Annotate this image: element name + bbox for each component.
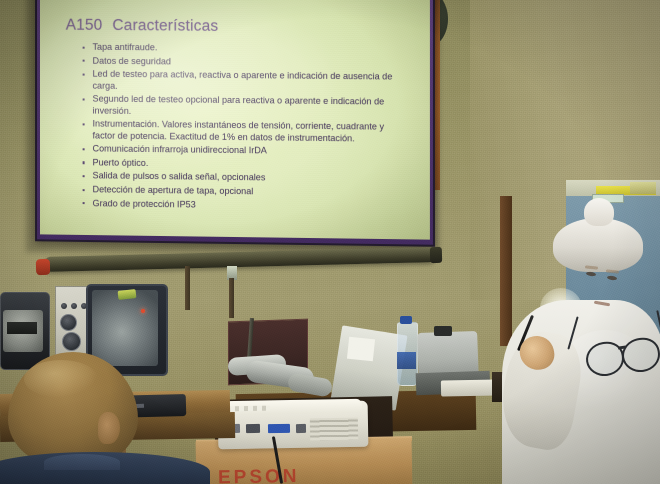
projector-vent bbox=[310, 418, 358, 441]
shelf-object bbox=[630, 182, 656, 194]
box-brand-print: EPSON bbox=[218, 465, 378, 484]
white-device bbox=[441, 379, 499, 396]
tripod-leg-left bbox=[185, 266, 190, 310]
list-item: Detección de apertura de tapa, opcional bbox=[80, 184, 404, 199]
projector-port-vga bbox=[268, 424, 290, 433]
slide-title-code: A150 bbox=[66, 17, 103, 34]
audience-collar bbox=[44, 454, 120, 470]
screen-canvas: A150Características Tapa antifraude. Dat… bbox=[40, 0, 430, 240]
equipment-top-module bbox=[434, 326, 452, 336]
eyeglass-lens-right bbox=[620, 336, 660, 375]
presenter-hair-tuft bbox=[584, 198, 614, 226]
panel-indicator-1 bbox=[61, 303, 67, 309]
panel-knob-upper bbox=[60, 314, 77, 331]
meter-digits bbox=[7, 322, 37, 334]
paper-block bbox=[347, 337, 375, 362]
list-item: Puerto óptico. bbox=[80, 157, 404, 172]
panel-knob-lower bbox=[62, 332, 81, 351]
bottle-cap bbox=[400, 316, 412, 324]
list-item: Salida de pulsos o salida señal, opciona… bbox=[80, 171, 404, 186]
instrument-glass bbox=[92, 290, 158, 366]
projector-port-video bbox=[296, 424, 306, 433]
projector-port-serial bbox=[246, 424, 260, 433]
audience-hair-highlight bbox=[24, 360, 98, 398]
slide-content: A150Características Tapa antifraude. Dat… bbox=[40, 0, 430, 240]
instrument-label bbox=[118, 289, 137, 300]
slide-bullet-list: Tapa antifraude. Datos de seguridad Led … bbox=[66, 42, 414, 214]
list-item: Comunicación infrarroja unidireccional I… bbox=[80, 143, 404, 158]
slide-title-text: Características bbox=[112, 17, 218, 35]
status-indicator-led bbox=[141, 309, 145, 313]
list-item: Datos de seguridad bbox=[80, 55, 404, 69]
presenter-hair bbox=[553, 218, 643, 272]
door-frame bbox=[500, 196, 512, 346]
slide-title: A150Características bbox=[66, 17, 414, 38]
list-item: Tapa antifraude. bbox=[80, 42, 404, 56]
roller-cap-left bbox=[36, 259, 50, 275]
list-item: Grado de protección IP53 bbox=[80, 198, 404, 214]
list-item: Led de testeo para activa, reactiva o ap… bbox=[80, 69, 404, 95]
list-item: Segundo led de testeo opcional para reac… bbox=[80, 94, 404, 120]
tripod-leg-right bbox=[229, 278, 234, 318]
projection-screen: A150Características Tapa antifraude. Dat… bbox=[35, 0, 435, 247]
projector-controls bbox=[226, 406, 270, 412]
photo-scene: MAPES PROVEEDORES DE INSUMOS Y SERVICIOS… bbox=[0, 0, 660, 484]
audience-ear bbox=[98, 412, 120, 444]
list-item: Instrumentación. Valores instantáneos de… bbox=[80, 119, 404, 145]
eyeglasses bbox=[586, 334, 660, 378]
bottle-label bbox=[397, 352, 416, 369]
panel-indicator-2 bbox=[71, 303, 77, 309]
roller-cap-right bbox=[430, 247, 442, 263]
